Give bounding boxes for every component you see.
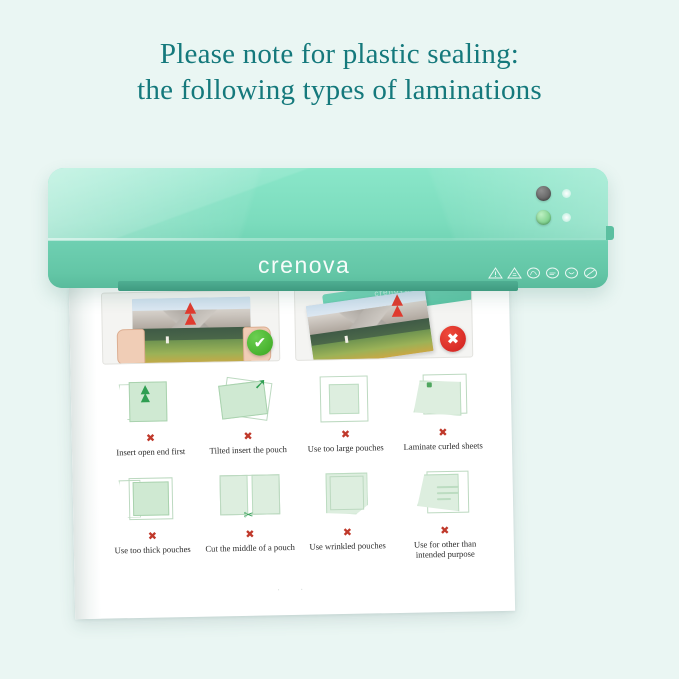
power-knob[interactable] bbox=[536, 186, 551, 201]
x-mark: ✖ bbox=[343, 526, 352, 537]
dont-item-other-purpose: ✖ Use for other than intended purpose bbox=[395, 465, 494, 561]
dont-grid-row-1: ▲▲ ✖ Insert open end first ➚ ✖ bbox=[101, 367, 493, 458]
dont-grid: ▲▲ ✖ Insert open end first ➚ ✖ bbox=[101, 367, 495, 566]
sheet-edge-shadow bbox=[69, 287, 101, 619]
correct-insert-example: ▲▲ ✔ bbox=[101, 289, 280, 364]
no-liquid-circle-icon bbox=[564, 267, 579, 279]
dont-caption: Tilted insert the pouch bbox=[202, 444, 294, 456]
dont-caption: Use too large pouches bbox=[300, 442, 392, 454]
page-title: Please note for plastic sealing: the fol… bbox=[0, 36, 679, 108]
dont-item-wrinkled-pouch: ✖ Use wrinkled pouches bbox=[297, 467, 396, 563]
instruction-sheet: ▲▲ ✔ crenova ▲▲ ✖ bbox=[69, 279, 515, 619]
pouch-too-large-icon bbox=[299, 369, 390, 429]
wrinkled-pouch-icon bbox=[301, 467, 392, 527]
dont-item-too-thick-pouch: ✖ Use too thick pouches bbox=[102, 470, 201, 566]
x-mark: ✖ bbox=[245, 528, 254, 539]
laminator-machine: crenova bbox=[48, 148, 608, 300]
read-manual-circle-icon bbox=[583, 267, 598, 279]
insert-direction-arrows-icon: ▲▲ bbox=[184, 302, 196, 324]
hot-surface-triangle-icon bbox=[507, 267, 522, 279]
dont-caption: Laminate curled sheets bbox=[397, 440, 489, 452]
machine-highlight-facet bbox=[48, 168, 408, 246]
dont-item-insert-open-end: ▲▲ ✖ Insert open end first bbox=[101, 373, 200, 458]
sheet-footer-dots: . . bbox=[75, 579, 515, 596]
warning-triangle-icon bbox=[488, 267, 503, 279]
dont-item-too-large-pouch: ✖ Use too large pouches bbox=[296, 369, 395, 454]
control-panel bbox=[532, 184, 586, 234]
x-mark: ✖ bbox=[438, 427, 447, 438]
x-mark: ✖ bbox=[146, 433, 155, 444]
cross-badge: ✖ bbox=[440, 326, 466, 352]
other-purpose-icon bbox=[399, 465, 490, 525]
curled-sheet-icon bbox=[397, 367, 488, 427]
dont-caption: Use too thick pouches bbox=[107, 543, 199, 555]
dont-grid-row-2: ✖ Use too thick pouches ✂ ✖ Cut the midd… bbox=[102, 465, 494, 566]
headline-line-2: the following types of laminations bbox=[0, 72, 679, 108]
no-metal-circle-icon bbox=[545, 267, 560, 279]
poster-canvas: Please note for plastic sealing: the fol… bbox=[0, 0, 679, 679]
ready-knob[interactable] bbox=[536, 210, 551, 225]
left-hand bbox=[117, 329, 146, 365]
pouch-tilted-icon: ➚ bbox=[202, 371, 293, 431]
pouch-too-thick-icon bbox=[106, 470, 197, 530]
dont-item-cut-pouch: ✂ ✖ Cut the middle of a pouch bbox=[200, 468, 299, 564]
feed-slot bbox=[118, 281, 518, 291]
dont-item-tilted-insert: ➚ ✖ Tilted insert the pouch bbox=[198, 371, 297, 456]
x-mark: ✖ bbox=[148, 530, 157, 541]
dont-caption: Use for other than intended purpose bbox=[399, 538, 491, 561]
headline-line-1: Please note for plastic sealing: bbox=[160, 38, 519, 70]
ready-led bbox=[562, 213, 571, 222]
machine-edge-highlight bbox=[48, 238, 608, 241]
power-led bbox=[562, 189, 571, 198]
dont-caption: Use wrinkled pouches bbox=[302, 540, 394, 552]
dont-item-curled-sheets: ✖ Laminate curled sheets bbox=[393, 367, 492, 452]
x-mark: ✖ bbox=[440, 524, 449, 535]
x-mark: ✖ bbox=[341, 429, 350, 440]
warning-icon-row bbox=[488, 266, 608, 280]
dont-caption: Cut the middle of a pouch bbox=[204, 541, 296, 553]
brand-logo: crenova bbox=[258, 252, 350, 279]
cut-pouch-icon: ✂ bbox=[204, 468, 295, 528]
pouch-open-end-icon: ▲▲ bbox=[104, 373, 195, 433]
no-hands-circle-icon bbox=[526, 267, 541, 279]
dont-caption: Insert open end first bbox=[105, 446, 197, 458]
machine-side-nub bbox=[606, 226, 614, 240]
x-mark: ✖ bbox=[243, 431, 252, 442]
